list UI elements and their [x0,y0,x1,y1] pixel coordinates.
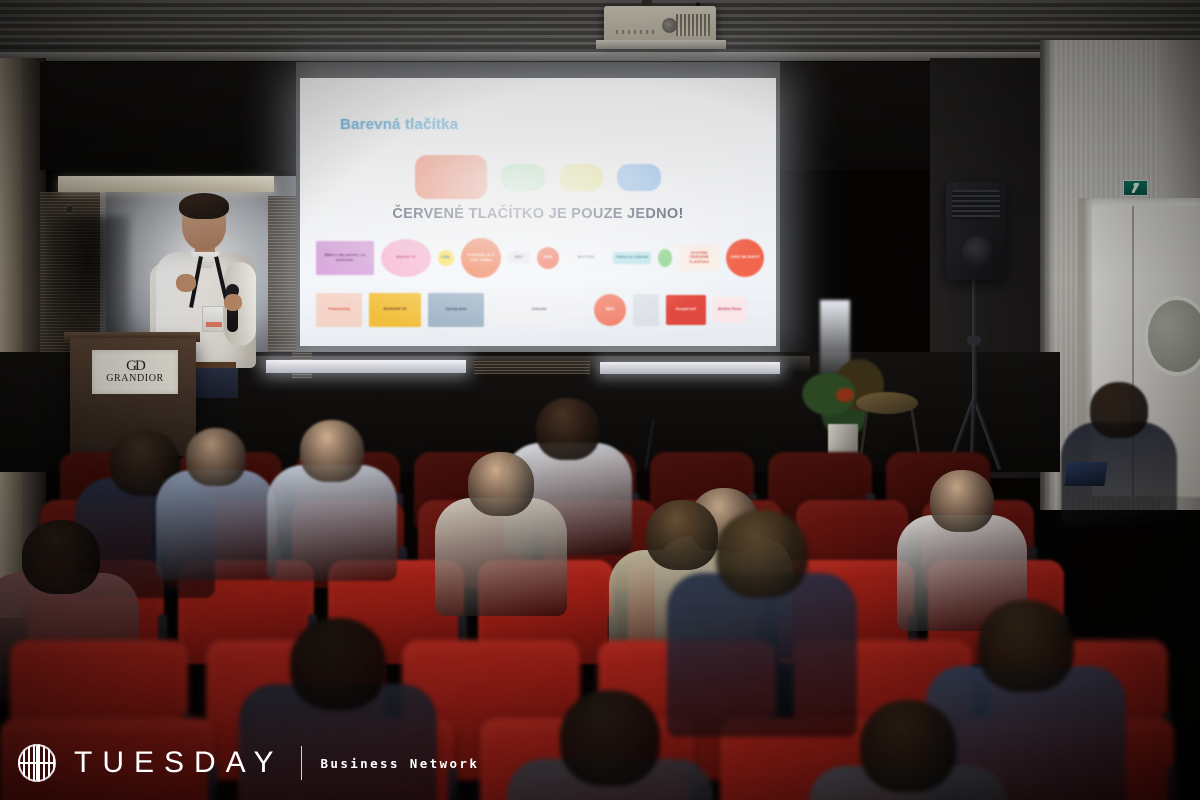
globe-icon [18,744,56,782]
attendee-front-1 [290,618,386,710]
watermark-divider [301,746,302,780]
seat-armrest [1168,765,1177,800]
watermark-brand: TUESDAY [74,746,283,780]
attendee-front-5 [860,700,956,792]
tuesday-watermark: TUESDAY Business Network [18,744,479,782]
attendee-front-2 [716,510,808,598]
conference-hall-photo: Barevná tlačítka ČERVENÉ TLAČÍTKO JE POU… [0,0,1200,800]
attendee-front-3 [978,600,1074,692]
watermark-tagline: Business Network [320,756,479,771]
attendee-front-4 [560,690,660,786]
attendee-laptop [1064,462,1107,486]
